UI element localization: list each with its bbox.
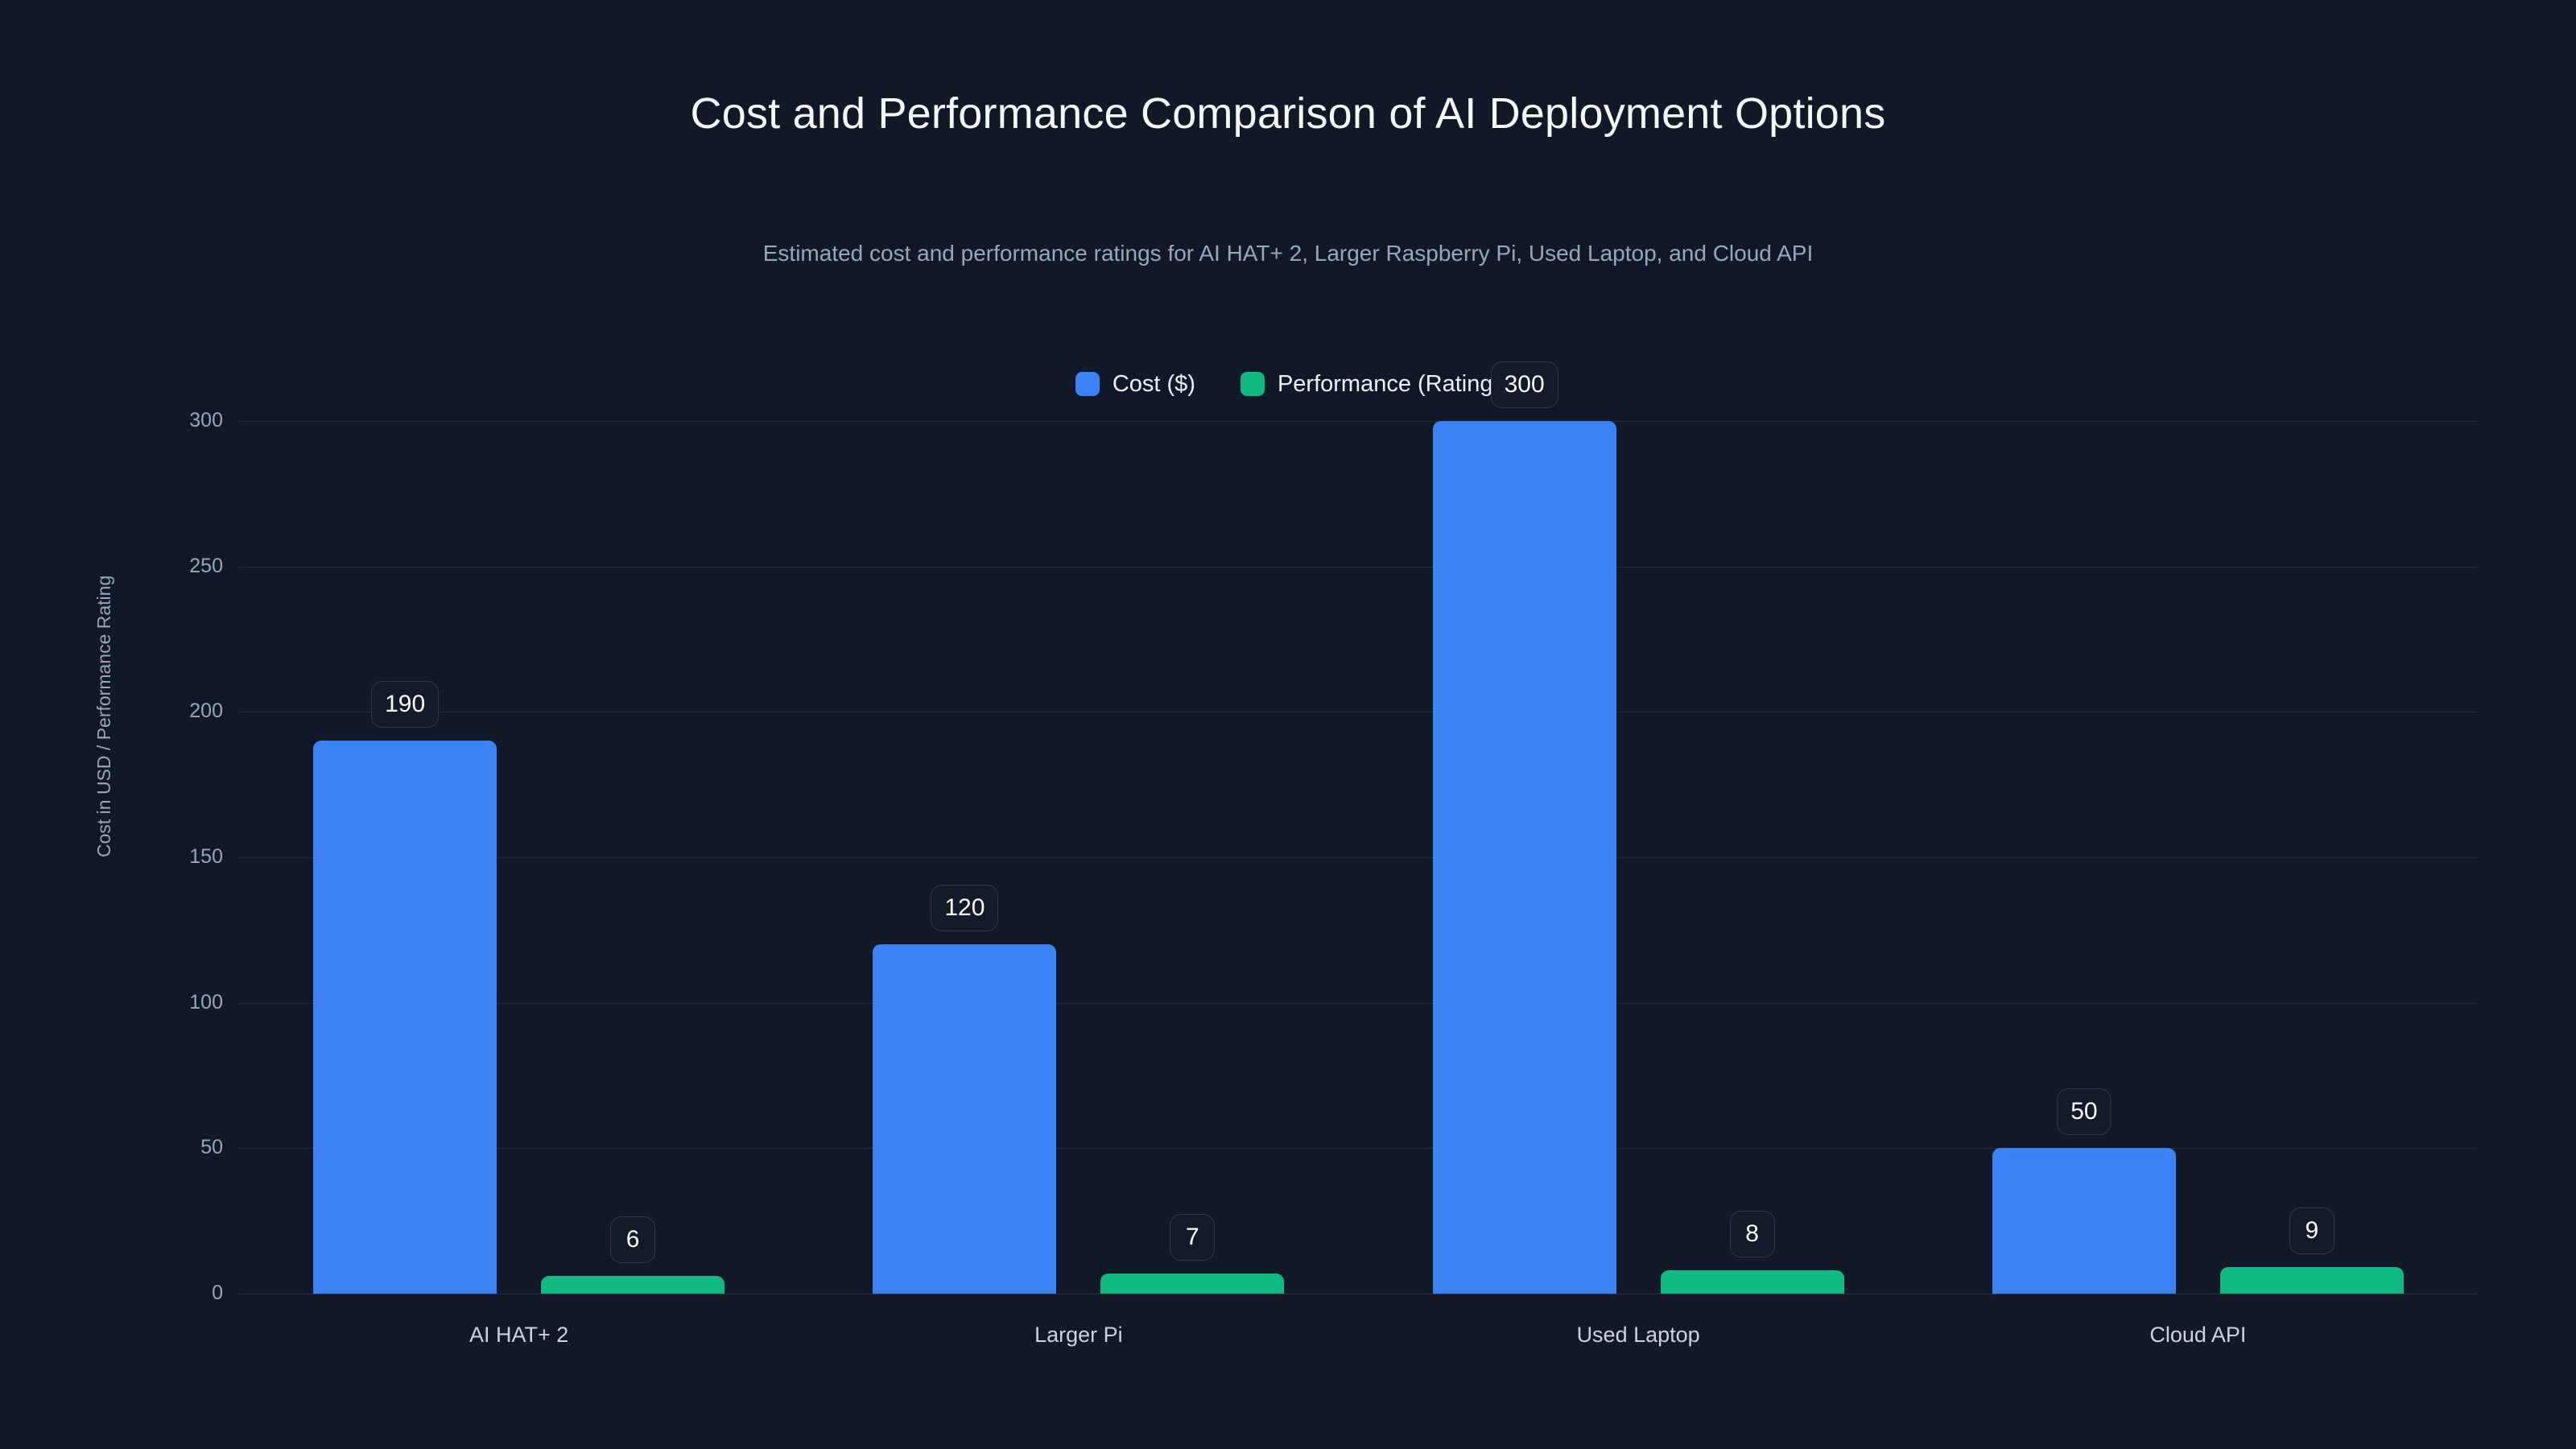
bar-performance-1[interactable]	[1100, 1274, 1284, 1294]
bar-performance-2[interactable]	[1661, 1270, 1844, 1294]
data-label-cost-0: 190	[371, 681, 439, 728]
x-tick-label-0: AI HAT+ 2	[358, 1324, 680, 1346]
bar-cost-0[interactable]	[313, 741, 497, 1294]
legend-item-performance[interactable]: Performance (Rating)	[1241, 372, 1501, 396]
x-tick-label-2: Used Laptop	[1477, 1324, 1799, 1346]
y-axis-title: Cost in USD / Performance Rating	[95, 576, 114, 857]
chart-legend: Cost ($) Performance (Rating)	[0, 372, 2576, 396]
bar-performance-3[interactable]	[2220, 1267, 2404, 1294]
bar-cost-2[interactable]	[1433, 421, 1616, 1294]
data-label-performance-2: 8	[1730, 1211, 1775, 1257]
legend-swatch-cost-icon	[1075, 372, 1100, 396]
gridline-0	[239, 1294, 2478, 1294]
gridline-200	[239, 712, 2478, 712]
chart-title: Cost and Performance Comparison of AI De…	[0, 90, 2576, 138]
data-label-cost-3: 50	[2057, 1088, 2111, 1135]
y-tick-label-200: 200	[126, 701, 223, 721]
bar-chart-canvas: Cost and Performance Comparison of AI De…	[0, 0, 2576, 1449]
bar-cost-1[interactable]	[873, 944, 1056, 1294]
gridline-100	[239, 1003, 2478, 1004]
legend-swatch-performance-icon	[1241, 372, 1265, 396]
data-label-performance-0: 6	[610, 1216, 655, 1263]
y-tick-label-300: 300	[126, 411, 223, 431]
bar-cost-3[interactable]	[1992, 1148, 2176, 1294]
data-label-cost-1: 120	[931, 885, 998, 931]
bar-performance-0[interactable]	[541, 1276, 724, 1294]
gridline-150	[239, 857, 2478, 858]
gridline-300	[239, 421, 2478, 422]
data-label-performance-3: 9	[2289, 1207, 2334, 1254]
data-label-cost-2: 300	[1491, 361, 1558, 408]
data-label-performance-1: 7	[1170, 1214, 1215, 1261]
chart-subtitle: Estimated cost and performance ratings f…	[0, 242, 2576, 266]
x-tick-label-3: Cloud API	[2037, 1324, 2359, 1346]
y-tick-label-50: 50	[126, 1137, 223, 1158]
y-tick-label-150: 150	[126, 847, 223, 867]
legend-label-performance: Performance (Rating)	[1278, 373, 1501, 396]
x-tick-label-1: Larger Pi	[918, 1324, 1240, 1346]
y-tick-label-0: 0	[126, 1283, 223, 1303]
legend-item-cost[interactable]: Cost ($)	[1075, 372, 1195, 396]
y-tick-label-100: 100	[126, 993, 223, 1013]
gridline-250	[239, 567, 2478, 568]
plot-area	[239, 421, 2478, 1294]
legend-label-cost: Cost ($)	[1113, 373, 1195, 396]
y-tick-label-250: 250	[126, 556, 223, 576]
